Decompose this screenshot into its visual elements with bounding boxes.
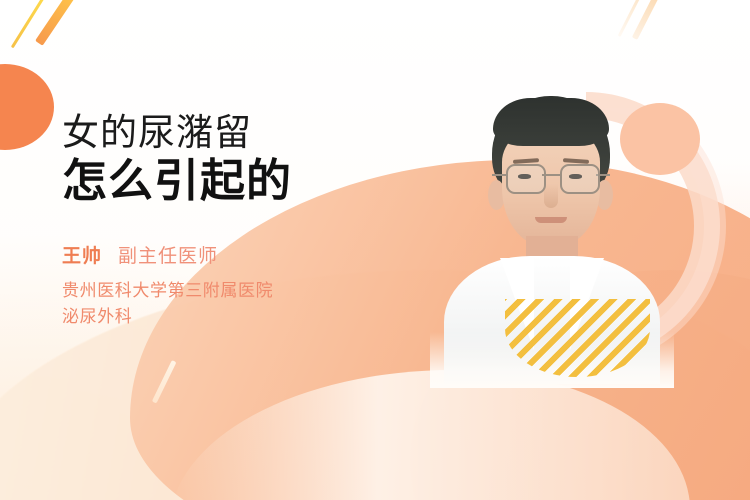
hospital-name: 贵州医科大学第三附属医院 [62,278,392,304]
portrait-glasses-lens-right [560,164,600,194]
text-block: 女的尿潴留 怎么引起的 王帅 副主任医师 贵州医科大学第三附属医院 泌尿外科 [62,112,392,330]
department-name: 泌尿外科 [62,304,392,330]
doctor-line: 王帅 副主任医师 [62,241,392,268]
portrait-glasses-lens-left [506,164,546,194]
portrait-glasses-temple-left [492,174,506,176]
doctor-title: 副主任医师 [118,241,218,268]
doctor-name: 王帅 [62,241,102,268]
portrait-mouth [535,217,567,223]
medical-info-card: 女的尿潴留 怎么引起的 王帅 副主任医师 贵州医科大学第三附属医院 泌尿外科 [0,0,750,500]
portrait-glasses-bridge [542,174,560,176]
page-title-line1: 女的尿潴留 [62,112,392,153]
page-title-line2: 怎么引起的 [62,155,392,206]
portrait-nose [544,184,558,208]
hospital-info: 贵州医科大学第三附属医院 泌尿外科 [62,278,392,331]
portrait-fringe [493,98,609,146]
